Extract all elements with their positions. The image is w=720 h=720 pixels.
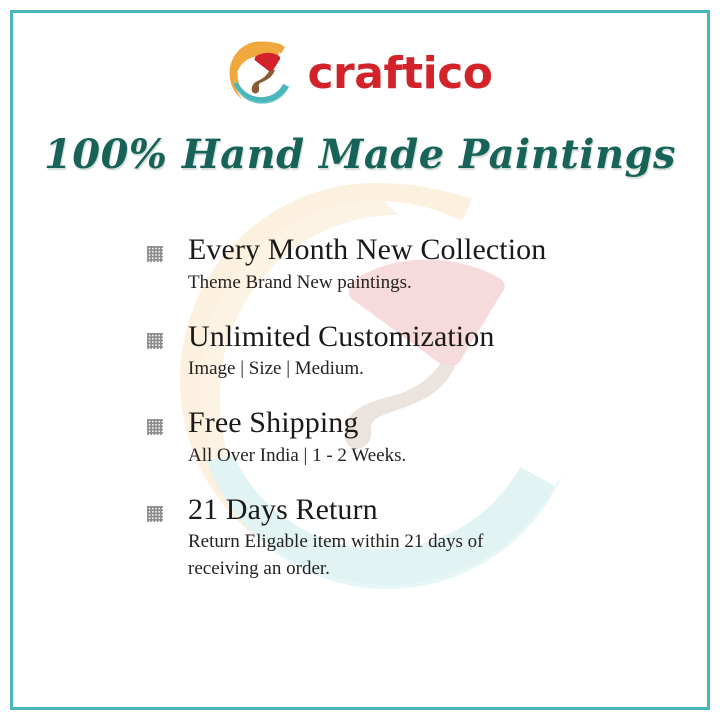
feature-description: Image | Size | Medium. bbox=[188, 356, 548, 383]
woven-square-bullet-icon bbox=[145, 331, 165, 351]
feature-description: Return Eligable item within 21 days of r… bbox=[188, 529, 548, 583]
promo-banner: craftico 100% Hand Made Paintings bbox=[0, 0, 720, 720]
brand-wordmark: craftico bbox=[307, 52, 492, 96]
list-item: Every Month New Collection Theme Brand N… bbox=[140, 232, 610, 297]
woven-square-bullet-icon bbox=[145, 504, 165, 524]
feature-title: 21 Days Return bbox=[188, 492, 610, 529]
feature-list: Every Month New Collection Theme Brand N… bbox=[140, 232, 610, 583]
page-title: 100% Hand Made Paintings bbox=[0, 131, 720, 178]
list-item: Unlimited Customization Image | Size | M… bbox=[140, 319, 610, 384]
woven-square-bullet-icon bbox=[145, 417, 165, 437]
brand-logo: craftico bbox=[0, 34, 720, 110]
list-item: 21 Days Return Return Eligable item with… bbox=[140, 492, 610, 584]
feature-title: Unlimited Customization bbox=[188, 319, 610, 356]
feature-title: Free Shipping bbox=[188, 405, 610, 442]
feature-description: Theme Brand New paintings. bbox=[188, 270, 548, 297]
feature-description: All Over India | 1 - 2 Weeks. bbox=[188, 443, 548, 470]
feature-title: Every Month New Collection bbox=[188, 232, 610, 269]
craftico-c-paintbrush-logo-icon bbox=[227, 39, 293, 105]
woven-square-bullet-icon bbox=[145, 244, 165, 264]
list-item: Free Shipping All Over India | 1 - 2 Wee… bbox=[140, 405, 610, 470]
